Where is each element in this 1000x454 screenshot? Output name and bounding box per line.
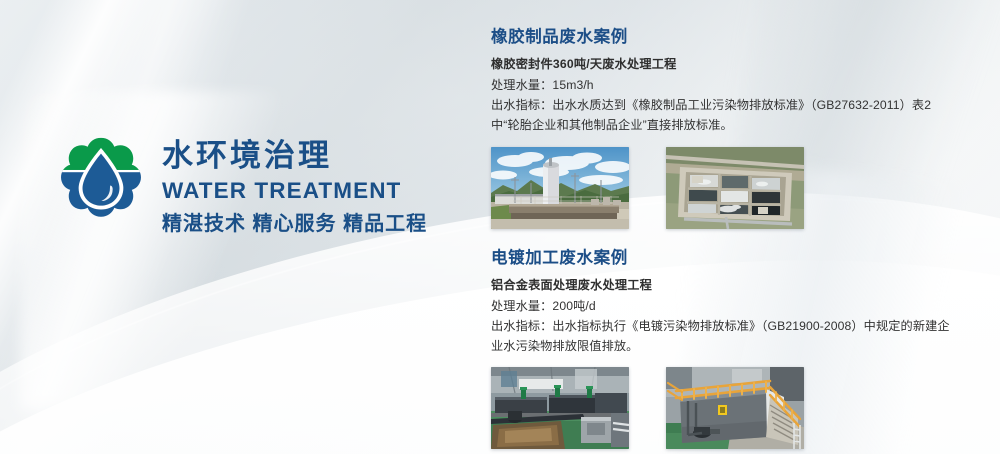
case-photo-row: 车间内电镀废水处理槽	[491, 367, 953, 449]
brand-block: 水环境治理 WATER TREATMENT 精湛技术 精心服务 精品工程	[58, 132, 427, 237]
brand-title-cn: 水环境治理	[162, 137, 427, 175]
brand-slogan: 精湛技术 精心服务 精品工程	[162, 211, 427, 237]
banner-page: 水环境治理 WATER TREATMENT 精湛技术 精心服务 精品工程 橡胶制…	[0, 0, 1000, 454]
brand-text-group: 水环境治理 WATER TREATMENT 精湛技术 精心服务 精品工程	[162, 132, 427, 237]
case-electroplating-wastewater: 电镀加工废水案例 铝合金表面处理废水处理工程 处理水量：200吨/d 出水指标：…	[491, 247, 953, 450]
photo-outdoor-treatment-plant-silo: 室外废水处理厂区与竖式储罐	[491, 147, 629, 229]
cases-column: 橡胶制品废水案例 橡胶密封件360吨/天废水处理工程 处理水量：15m3/h 出…	[491, 26, 953, 449]
case-title: 橡胶制品废水案例	[491, 26, 953, 49]
photo-tank-with-yellow-railing: 带黄色护栏与楼梯的处理罐体	[666, 367, 804, 449]
case-photo-row: 室外废水处理厂区与竖式储罐	[491, 147, 953, 229]
case-standard: 出水指标：出水水质达到《橡胶制品工业污染物排放标准》（GB27632-2011）…	[491, 96, 953, 136]
brand-title-en: WATER TREATMENT	[162, 176, 427, 206]
case-title: 电镀加工废水案例	[491, 247, 953, 270]
photo-indoor-electroplating-tanks: 车间内电镀废水处理槽	[491, 367, 629, 449]
case-rubber-wastewater: 橡胶制品废水案例 橡胶密封件360吨/天废水处理工程 处理水量：15m3/h 出…	[491, 26, 953, 229]
photo-aerial-treatment-basins: 航拍废水处理池组	[666, 147, 804, 229]
case-capacity: 处理水量：15m3/h	[491, 76, 953, 96]
case-capacity: 处理水量：200吨/d	[491, 297, 953, 317]
case-subtitle: 铝合金表面处理废水处理工程	[491, 276, 953, 294]
case-standard: 出水指标：出水指标执行《电镀污染物排放标准》（GB21900-2008）中规定的…	[491, 317, 953, 357]
case-subtitle: 橡胶密封件360吨/天废水处理工程	[491, 55, 953, 73]
water-drop-blossom-logo-icon	[58, 136, 144, 228]
